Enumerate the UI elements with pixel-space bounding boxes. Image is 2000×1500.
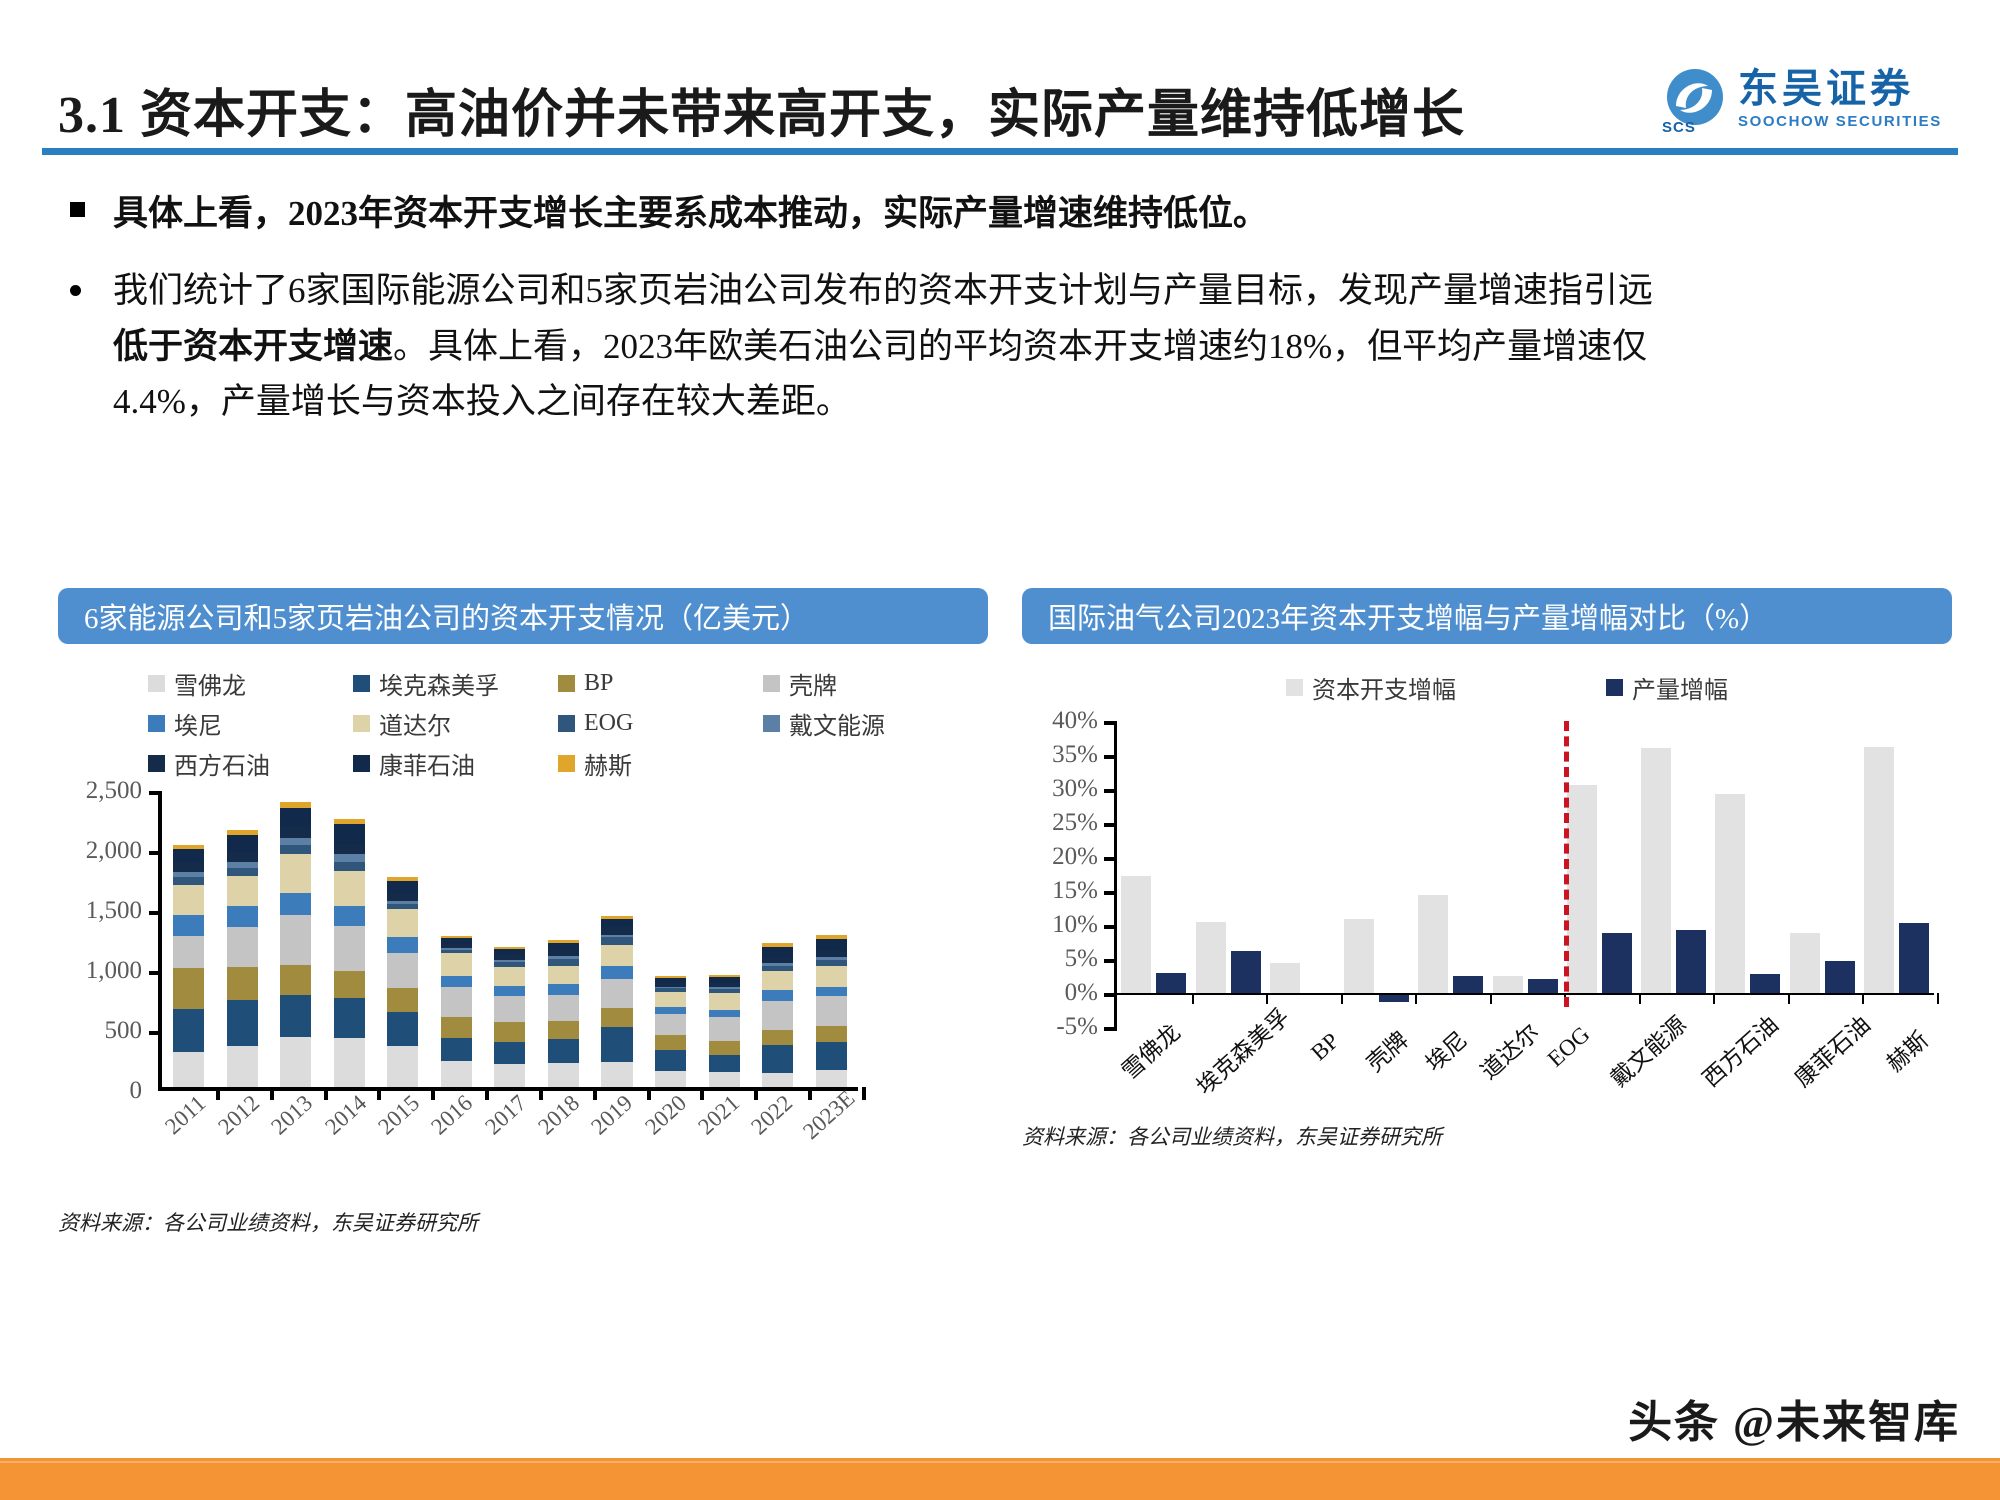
x-tick-mark — [1415, 993, 1417, 1004]
legend-label: 壳牌 — [789, 666, 837, 701]
bar-segment — [441, 976, 472, 987]
bar-segment — [280, 915, 311, 965]
bullet-2-line-2: 低于资本开支增速。具体上看，2023年欧美石油公司的平均资本开支增速约18%，但… — [113, 319, 1893, 374]
x-tick-label: 康菲石油 — [1784, 1023, 1876, 1057]
y-tick-label: 0 — [130, 1077, 143, 1105]
bar-stack — [601, 916, 632, 1087]
bar-segment — [601, 927, 632, 935]
bar-group[interactable] — [1860, 721, 1934, 1027]
bar-segment — [441, 1017, 472, 1039]
bar-stack — [173, 845, 204, 1087]
bar-segment — [548, 995, 579, 1021]
bar-segment — [280, 995, 311, 1036]
legend-item-9[interactable]: 康菲石油 — [353, 746, 558, 781]
bar-segment — [601, 1062, 632, 1087]
bar-segment — [441, 987, 472, 1016]
bar — [1493, 976, 1523, 993]
legend-label: 雪佛龙 — [174, 666, 246, 701]
legend-label: 道达尔 — [379, 706, 451, 741]
bar-segment — [387, 1012, 418, 1046]
bar-segment — [816, 939, 847, 951]
legend-label: 资本开支增幅 — [1312, 670, 1456, 705]
legend-item-7[interactable]: 戴文能源 — [763, 706, 968, 741]
bar-segment — [709, 1055, 740, 1072]
bar — [1196, 922, 1226, 993]
bar-segment — [334, 971, 365, 998]
bar-segment — [173, 877, 204, 884]
bar-column[interactable] — [697, 791, 751, 1087]
bar-group[interactable] — [1563, 721, 1637, 1027]
legend-item-0[interactable]: 雪佛龙 — [148, 666, 353, 701]
right-chart-bars — [1117, 721, 1934, 1027]
bar-segment — [334, 854, 365, 861]
bar-segment — [655, 992, 686, 1007]
bar — [1864, 747, 1894, 993]
x-tick-label: 戴文能源 — [1600, 1023, 1692, 1057]
bar-segment — [494, 1022, 525, 1042]
bar-segment — [280, 1037, 311, 1087]
bar-segment — [709, 1010, 740, 1018]
bar-stack — [334, 819, 365, 1088]
y-tick-mark — [1104, 891, 1117, 895]
x-tick-label: 雪佛龙 — [1114, 1023, 1183, 1057]
bar-segment — [280, 965, 311, 995]
bar-segment — [601, 945, 632, 967]
bar-segment — [173, 1052, 204, 1087]
x-tick-label: 埃尼 — [1414, 1023, 1472, 1057]
company-logo: SCS 东吴证券 SOOCHOW SECURITIES — [1662, 58, 1962, 140]
y-tick-label: -5% — [1056, 1013, 1098, 1041]
y-tick-label: 40% — [1052, 707, 1098, 735]
bar-segment — [762, 1045, 793, 1073]
bar — [1270, 963, 1300, 993]
square-bullet-icon — [70, 202, 85, 217]
legend-item-4[interactable]: 埃尼 — [148, 706, 353, 741]
bar — [1121, 876, 1151, 993]
bar — [1750, 974, 1780, 993]
bar-segment — [548, 984, 579, 995]
legend-swatch-icon — [1606, 679, 1623, 696]
bullet-2-line-1: 我们统计了6家国际能源公司和5家页岩油公司发布的资本开支计划与产量目标，发现产量… — [113, 263, 1893, 318]
y-tick-mark — [149, 1031, 162, 1035]
y-tick-label: 35% — [1052, 741, 1098, 769]
bar-segment — [655, 1014, 686, 1036]
legend-item-1[interactable]: 产量增幅 — [1606, 670, 1728, 705]
bar — [1790, 933, 1820, 993]
bar-column[interactable] — [644, 791, 698, 1087]
legend-label: 西方石油 — [174, 746, 270, 781]
bar-segment — [494, 967, 525, 986]
bar-segment — [548, 1021, 579, 1039]
bullet-2-line-3: 4.4%，产量增长与资本投入之间存在较大差距。 — [113, 374, 1893, 429]
bar-segment — [441, 1038, 472, 1061]
x-tick-mark — [1937, 993, 1939, 1004]
bar-segment — [334, 844, 365, 855]
bar-segment — [709, 1072, 740, 1087]
bar-segment — [280, 827, 311, 838]
bar-segment — [387, 988, 418, 1012]
bar-segment — [334, 1038, 365, 1087]
bar-segment — [227, 1046, 258, 1087]
bar-segment — [280, 808, 311, 827]
right-chart-plot: -5%0%5%10%15%20%25%30%35%40% 雪佛龙埃克森美孚BP壳… — [1022, 721, 1952, 1051]
bar-segment — [227, 876, 258, 905]
bar-stack — [655, 976, 686, 1087]
y-tick-mark — [1104, 857, 1117, 861]
x-tick-label: 2012 — [211, 1095, 264, 1121]
bar-segment — [227, 927, 258, 967]
bar-segment — [762, 990, 793, 1001]
bar-segment — [494, 1042, 525, 1064]
x-tick-label: 2020 — [638, 1095, 691, 1121]
bar-segment — [334, 824, 365, 844]
x-tick-mark — [1862, 993, 1864, 1004]
bar-segment — [334, 926, 365, 970]
bar-segment — [173, 863, 204, 872]
bar — [1567, 785, 1597, 993]
bar-stack — [762, 943, 793, 1087]
bar-column[interactable] — [483, 791, 537, 1087]
y-tick-label: 0% — [1065, 979, 1098, 1007]
bar-segment — [816, 1026, 847, 1042]
bullet-2-emphasis: 低于资本开支增速 — [113, 327, 393, 366]
x-tick-label: 2013 — [265, 1095, 318, 1121]
dot-bullet-icon — [70, 285, 81, 296]
watermark-text: 头条 @未来智库 — [1628, 1386, 1960, 1450]
x-tick-mark — [1490, 993, 1492, 1004]
bar — [1825, 961, 1855, 993]
bar-stack — [441, 936, 472, 1087]
left-chart-title: 6家能源公司和5家页岩油公司的资本开支情况（亿美元） — [58, 588, 988, 644]
logo-english-name: SOOCHOW SECURITIES — [1738, 113, 1942, 130]
legend-swatch-icon — [353, 715, 370, 732]
right-chart-panel: 国际油气公司2023年资本开支增幅与产量增幅对比（%） 资本开支增幅产量增幅 -… — [1022, 588, 1952, 1151]
bar-segment — [709, 1041, 740, 1055]
bar-segment — [387, 937, 418, 953]
bar-segment — [601, 979, 632, 1008]
bar-stack — [494, 947, 525, 1087]
logo-abbr: SCS — [1662, 119, 1696, 136]
y-tick-label: 20% — [1052, 843, 1098, 871]
x-tick-label: 2016 — [425, 1095, 478, 1121]
left-chart-panel: 6家能源公司和5家页岩油公司的资本开支情况（亿美元） 雪佛龙埃克森美孚BP壳牌埃… — [58, 588, 988, 1237]
bar-segment — [548, 959, 579, 966]
bar-segment — [548, 943, 579, 950]
bar-segment — [709, 1017, 740, 1040]
legend-item-0[interactable]: 资本开支增幅 — [1286, 670, 1456, 705]
bar-segment — [762, 1001, 793, 1030]
legend-item-3[interactable]: 壳牌 — [763, 666, 968, 701]
left-chart-source: 资料来源：各公司业绩资料，东吴证券研究所 — [58, 1207, 988, 1237]
bar-segment — [655, 1050, 686, 1070]
bar-group[interactable] — [1488, 721, 1562, 1027]
y-tick-mark — [1104, 789, 1117, 793]
x-tick-label: 2015 — [371, 1095, 424, 1121]
legend-item-8[interactable]: 西方石油 — [148, 746, 353, 781]
y-tick-mark — [1104, 721, 1117, 725]
bar — [1602, 933, 1632, 993]
bar-segment — [280, 854, 311, 894]
bar — [1899, 923, 1929, 993]
bar-stack — [227, 830, 258, 1087]
bullet-1-text: 具体上看，2023年资本开支增长主要系成本推动，实际产量增速维持低位。 — [113, 186, 1268, 241]
x-tick-label: 2014 — [318, 1095, 371, 1121]
bar-stack — [548, 940, 579, 1087]
y-tick-label: 1,000 — [86, 957, 142, 985]
footer-bar — [0, 1458, 2000, 1500]
bar-segment — [601, 919, 632, 927]
bar-segment — [173, 885, 204, 915]
bar-segment — [709, 993, 740, 1009]
page-title: 3.1 资本开支：高油价并未带来高开支，实际产量维持低增长 — [58, 72, 1465, 147]
legend-swatch-icon — [148, 755, 165, 772]
legend-swatch-icon — [353, 755, 370, 772]
logo-chinese-name: 东吴证券 — [1738, 68, 1942, 110]
bar-segment — [387, 894, 418, 901]
bar — [1641, 748, 1671, 993]
bar-segment — [655, 1071, 686, 1087]
bullet-item-1: 具体上看，2023年资本开支增长主要系成本推动，实际产量增速维持低位。 — [70, 186, 1930, 241]
legend-swatch-icon — [148, 675, 165, 692]
bar-segment — [334, 998, 365, 1039]
bar-segment — [227, 868, 258, 876]
y-tick-mark — [149, 971, 162, 975]
left-chart-plot-area — [158, 791, 858, 1091]
bar-segment — [816, 987, 847, 996]
bar-group[interactable] — [1191, 721, 1265, 1027]
y-tick-label: 2,500 — [86, 777, 142, 805]
right-chart-x-labels: 雪佛龙埃克森美孚BP壳牌埃尼道达尔EOG戴文能源西方石油康菲石油赫斯 — [1114, 1023, 1934, 1057]
x-tick-label: BP — [1298, 1023, 1356, 1057]
bar-segment — [548, 966, 579, 984]
y-tick-mark — [1104, 823, 1117, 827]
left-chart-legend: 雪佛龙埃克森美孚BP壳牌埃尼道达尔EOG戴文能源西方石油康菲石油赫斯 — [148, 666, 968, 781]
bar-segment — [280, 893, 311, 915]
x-tick-mark — [1341, 993, 1343, 1004]
y-tick-label: 1,500 — [86, 897, 142, 925]
bar-segment — [173, 849, 204, 862]
bar-group[interactable] — [1266, 721, 1340, 1027]
bar-segment — [601, 1027, 632, 1062]
bar-segment — [173, 936, 204, 968]
bar-segment — [280, 845, 311, 854]
x-tick-label: 道达尔 — [1473, 1023, 1542, 1057]
bar-segment — [334, 862, 365, 871]
x-tick-label: 埃克森美孚 — [1183, 1023, 1298, 1057]
bar-segment — [762, 1073, 793, 1087]
bar — [1418, 895, 1448, 993]
bar-column[interactable] — [269, 791, 323, 1087]
bar-segment — [227, 835, 258, 852]
y-tick-mark — [1104, 755, 1117, 759]
x-tick-mark — [1192, 993, 1194, 1004]
bar-segment — [387, 1046, 418, 1087]
bar-segment — [387, 953, 418, 988]
legend-swatch-icon — [558, 675, 575, 692]
bar-segment — [762, 947, 793, 958]
bar-segment — [227, 1000, 258, 1046]
left-chart-x-labels: 2011201220132014201520162017201820192020… — [158, 1095, 858, 1121]
legend-swatch-icon — [353, 675, 370, 692]
bar-column[interactable] — [537, 791, 591, 1087]
bar-stack — [709, 975, 740, 1087]
bar-segment — [494, 1064, 525, 1087]
bar-group[interactable] — [1117, 721, 1191, 1027]
legend-swatch-icon — [1286, 679, 1303, 696]
y-tick-mark — [149, 851, 162, 855]
x-tick-mark — [1639, 993, 1641, 1004]
bar-segment — [387, 881, 418, 894]
bar — [1344, 919, 1374, 993]
y-tick-mark — [1104, 925, 1117, 929]
legend-label: 赫斯 — [584, 746, 632, 781]
bar — [1453, 976, 1483, 993]
bar-segment — [816, 966, 847, 987]
legend-label: BP — [584, 670, 613, 697]
legend-swatch-icon — [763, 715, 780, 732]
bar — [1528, 979, 1558, 993]
right-chart-plot-area — [1114, 721, 1934, 1027]
bullet-item-2: 我们统计了6家国际能源公司和5家页岩油公司发布的资本开支计划与产量目标，发现产量… — [70, 263, 1930, 429]
bullet-2-rest: 。具体上看，2023年欧美石油公司的平均资本开支增速约18%，但平均产量增速仅 — [393, 327, 1647, 366]
x-tick-label: 赫斯 — [1876, 1023, 1934, 1057]
x-tick-label: 2022 — [745, 1095, 798, 1121]
legend-item-5[interactable]: 道达尔 — [353, 706, 558, 741]
bar-segment — [548, 1039, 579, 1063]
bar-stack — [280, 802, 311, 1087]
x-tick-mark — [862, 1087, 866, 1100]
bar-group[interactable] — [1785, 721, 1859, 1027]
bar-segment — [227, 852, 258, 862]
y-tick-mark — [1104, 959, 1117, 963]
x-tick-label: 2023E — [798, 1095, 858, 1121]
header-divider — [42, 148, 1958, 155]
bar-column[interactable] — [376, 791, 430, 1087]
x-tick-label: 2017 — [478, 1095, 531, 1121]
soochow-logo-icon: SCS — [1662, 66, 1728, 132]
y-tick-mark — [149, 791, 162, 795]
zero-baseline — [1117, 993, 1934, 995]
bar-segment — [655, 1035, 686, 1050]
legend-label: 产量增幅 — [1632, 670, 1728, 705]
legend-item-1[interactable]: 埃克森美孚 — [353, 666, 558, 701]
bar-segment — [173, 1009, 204, 1052]
x-tick-label: 2021 — [691, 1095, 744, 1121]
bar-segment — [441, 1061, 472, 1087]
bar-segment — [494, 996, 525, 1022]
bar — [1676, 930, 1706, 993]
y-tick-label: 15% — [1052, 877, 1098, 905]
bar-group[interactable] — [1637, 721, 1711, 1027]
bar-group[interactable] — [1340, 721, 1414, 1027]
right-chart-source: 资料来源：各公司业绩资料，东吴证券研究所 — [1022, 1121, 1952, 1151]
bar — [1231, 951, 1261, 993]
bar-segment — [601, 937, 632, 944]
bar-column[interactable] — [751, 791, 805, 1087]
bar-column[interactable] — [804, 791, 858, 1087]
bar-segment — [227, 906, 258, 928]
y-tick-mark — [1104, 993, 1117, 997]
bar-segment — [441, 953, 472, 976]
x-tick-label: 壳牌 — [1356, 1023, 1414, 1057]
category-divider-line — [1564, 721, 1569, 1007]
bar-segment — [655, 1007, 686, 1014]
right-chart-legend: 资本开支增幅产量增幅 — [1022, 670, 1952, 705]
bar-stack — [816, 935, 847, 1087]
bar — [1715, 794, 1745, 993]
bar-column[interactable] — [590, 791, 644, 1087]
x-tick-label: EOG — [1542, 1023, 1600, 1057]
legend-item-2[interactable]: BP — [558, 666, 763, 701]
legend-label: 戴文能源 — [789, 706, 885, 741]
bar-segment — [762, 971, 793, 990]
bar-segment — [173, 968, 204, 1009]
y-tick-mark — [149, 911, 162, 915]
bar-segment — [494, 986, 525, 996]
bar-segment — [548, 1063, 579, 1087]
bar-column[interactable] — [430, 791, 484, 1087]
y-tick-label: 2,000 — [86, 837, 142, 865]
legend-label: EOG — [584, 710, 633, 737]
y-tick-label: 5% — [1065, 945, 1098, 973]
bar-segment — [816, 1042, 847, 1070]
y-tick-label: 10% — [1052, 911, 1098, 939]
bar-column[interactable] — [323, 791, 377, 1087]
bar-segment — [334, 906, 365, 926]
legend-swatch-icon — [148, 715, 165, 732]
bar-group[interactable] — [1711, 721, 1785, 1027]
bar-segment — [601, 1008, 632, 1027]
y-tick-label: 30% — [1052, 775, 1098, 803]
bar-segment — [334, 871, 365, 906]
left-chart-bars — [162, 791, 858, 1087]
left-chart-plot: 05001,0001,5002,0002,500 201120122013201… — [58, 791, 988, 1121]
body-bullets: 具体上看，2023年资本开支增长主要系成本推动，实际产量增速维持低位。 我们统计… — [70, 186, 1930, 451]
x-tick-label: 2019 — [585, 1095, 638, 1121]
y-tick-label: 500 — [105, 1017, 143, 1045]
bar-segment — [387, 909, 418, 937]
legend-swatch-icon — [763, 675, 780, 692]
right-chart-title: 国际油气公司2023年资本开支增幅与产量增幅对比（%） — [1022, 588, 1952, 644]
bar-group[interactable] — [1414, 721, 1488, 1027]
x-tick-label: 西方石油 — [1692, 1023, 1784, 1057]
bar-segment — [816, 996, 847, 1026]
legend-item-10[interactable]: 赫斯 — [558, 746, 763, 781]
x-tick-mark — [1713, 993, 1715, 1004]
bar-stack — [387, 877, 418, 1087]
legend-label: 埃克森美孚 — [379, 666, 499, 701]
x-tick-mark — [1788, 993, 1790, 1004]
bar-segment — [173, 915, 204, 936]
bar-segment — [280, 838, 311, 845]
bar-segment — [762, 1030, 793, 1045]
bar-segment — [601, 966, 632, 979]
legend-item-6[interactable]: EOG — [558, 706, 763, 741]
y-tick-label: 25% — [1052, 809, 1098, 837]
bar — [1156, 973, 1186, 993]
bar-segment — [227, 967, 258, 1000]
legend-label: 康菲石油 — [379, 746, 475, 781]
right-chart-y-axis: -5%0%5%10%15%20%25%30%35%40% — [1022, 721, 1108, 1051]
bar-column[interactable] — [162, 791, 216, 1087]
legend-label: 埃尼 — [174, 706, 222, 741]
left-chart-y-axis: 05001,0001,5002,0002,500 — [58, 791, 154, 1091]
legend-swatch-icon — [558, 755, 575, 772]
bar-column[interactable] — [216, 791, 270, 1087]
x-tick-label: 2011 — [158, 1095, 211, 1121]
x-tick-label: 2018 — [531, 1095, 584, 1121]
legend-swatch-icon — [558, 715, 575, 732]
